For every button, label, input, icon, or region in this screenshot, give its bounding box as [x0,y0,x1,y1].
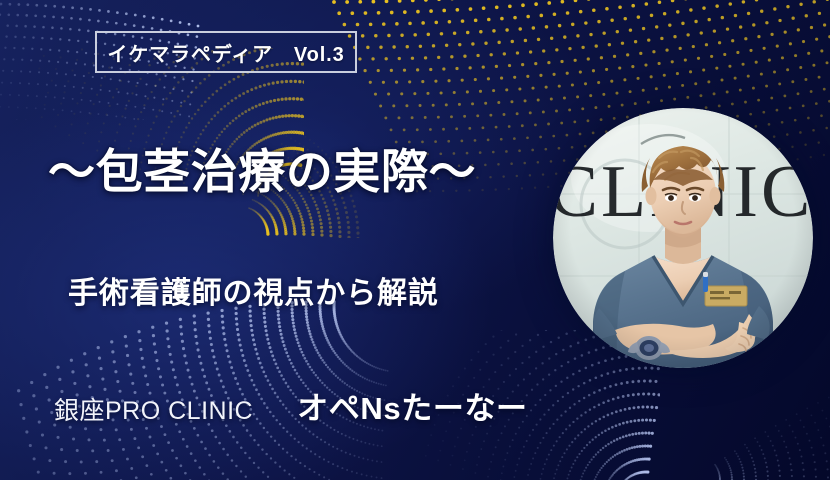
thumbnail-canvas: イケマラペディア Vol.3 〜包茎治療の実際〜 手術看護師の視点から解説 銀座… [0,0,830,480]
series-badge: イケマラペディア Vol.3 [95,31,357,73]
presenter-portrait-image: CLINIC [553,108,813,368]
series-badge-label: イケマラペディア Vol.3 [107,38,344,67]
page-subtitle: 手術看護師の視点から解説 [68,268,538,312]
gold-dot-wave-left-icon [0,48,304,228]
presenter-handle-label: オペNsたーなー [297,383,528,428]
clinic-name-label: 銀座PRO CLINIC [54,391,253,427]
presenter-portrait: CLINIC [553,108,813,368]
credits-row: 銀座PRO CLINIC オペNsたーなー [54,383,528,428]
page-title: 〜包茎治療の実際〜 [48,147,548,198]
